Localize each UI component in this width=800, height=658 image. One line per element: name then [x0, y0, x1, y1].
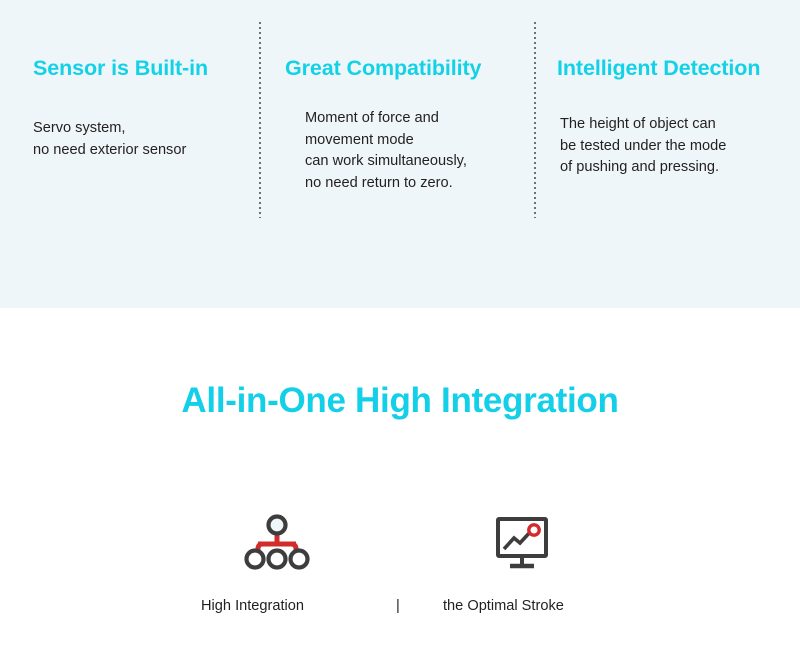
monitor-line-chart-icon	[487, 513, 557, 575]
caption-separator: |	[396, 596, 400, 616]
feature-panel: Sensor is Built-in Servo system, no need…	[0, 0, 800, 308]
caption-high-integration: High Integration	[201, 596, 304, 616]
feature-heading: Intelligent Detection	[557, 55, 760, 81]
feature-column-sensor: Sensor is Built-in Servo system, no need…	[33, 0, 248, 308]
feature-heading: Great Compatibility	[285, 55, 481, 81]
feature-body: Servo system, no need exterior sensor	[33, 118, 186, 161]
feature-column-compatibility: Great Compatibility Moment of force and …	[287, 0, 522, 308]
feature-heading: Sensor is Built-in	[33, 55, 208, 81]
column-divider-1	[259, 22, 261, 218]
icon-row	[0, 513, 800, 583]
integration-section: All-in-One High Integration	[0, 308, 800, 658]
feature-body: Moment of force and movement mode can wo…	[305, 108, 467, 194]
column-divider-2	[534, 22, 536, 218]
caption-optimal-stroke: the Optimal Stroke	[443, 596, 564, 616]
feature-body: The height of object can be tested under…	[560, 114, 726, 179]
org-hierarchy-icon	[242, 513, 312, 575]
feature-column-detection: Intelligent Detection The height of obje…	[558, 0, 798, 308]
caption-row: High Integration | the Optimal Stroke	[0, 596, 800, 620]
page-title: All-in-One High Integration	[0, 380, 800, 422]
